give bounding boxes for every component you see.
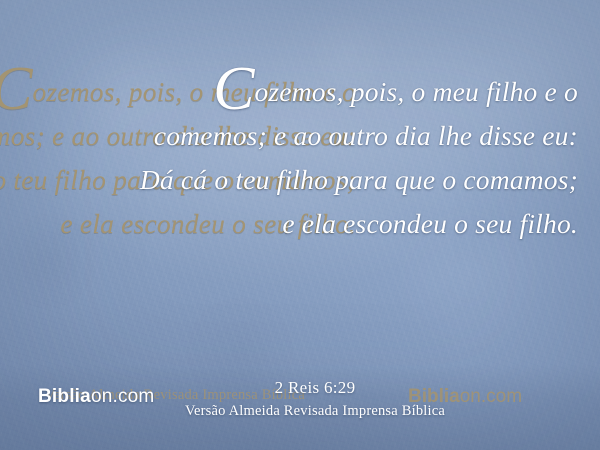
- verse-line-2: comemos; e ao outro dia lhe disse eu:: [22, 114, 578, 158]
- verse-line-1: Cozemos, pois, o meu filho e o: [22, 70, 578, 114]
- verse-reference: 2 Reis 6:29: [30, 378, 600, 398]
- verse-dropcap: C: [213, 55, 254, 123]
- verse-text: Cozemos, pois, o meu filho e o comemos; …: [0, 70, 600, 246]
- footer: Bibliaon.com Versão Almeida Revisada Imp…: [0, 364, 600, 450]
- attribution: 2 Reis 6:29 Versão Almeida Revisada Impr…: [0, 378, 600, 420]
- verse-image-canvas: Cozemos, pois, o meu filho e o comemos; …: [0, 0, 600, 450]
- verse-line-4: e ela escondeu o seu filho.: [22, 202, 578, 246]
- verse-line-3: Dá cá o teu filho para que o comamos;: [22, 158, 578, 202]
- verse-line-1-text: ozemos, pois, o meu filho e o: [254, 76, 578, 107]
- version-label: Versão Almeida Revisada Imprensa Bíblica: [30, 403, 600, 420]
